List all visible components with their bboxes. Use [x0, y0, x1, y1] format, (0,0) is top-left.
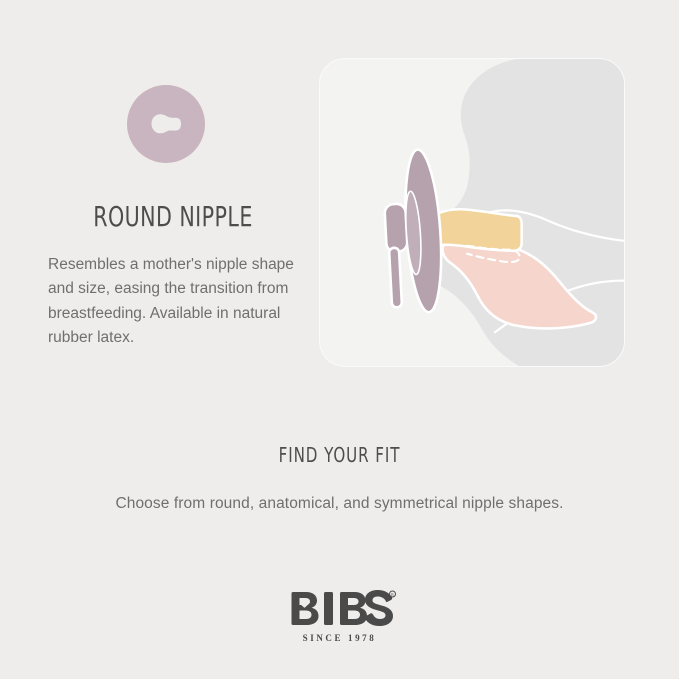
baby-profile-illustration-panel — [319, 58, 625, 367]
baby-profile-with-pacifier-diagram — [320, 59, 624, 366]
brand-logo-block: R SINCE 1978 — [0, 588, 679, 643]
feature-title: ROUND NIPPLE — [71, 202, 276, 233]
logo-letter-b-first — [291, 592, 318, 625]
bibs-wordmark-logo: R — [284, 588, 396, 628]
logo-letter-i — [324, 592, 333, 625]
find-your-fit-title: FIND YOUR FIT — [54, 443, 624, 467]
logo-tagline: SINCE 1978 — [0, 633, 679, 643]
logo-letter-s — [364, 590, 392, 626]
pacifier-handle-bar — [384, 204, 407, 253]
product-infographic-page: ROUND NIPPLE Resembles a mother's nipple… — [0, 0, 679, 679]
round-nipple-feature-column: ROUND NIPPLE Resembles a mother's nipple… — [48, 85, 298, 351]
find-your-fit-subtitle: Choose from round, anatomical, and symme… — [0, 495, 679, 513]
feature-description: Resembles a mother's nipple shape and si… — [48, 253, 298, 351]
svg-text:R: R — [391, 592, 394, 597]
feature-top-section: ROUND NIPPLE Resembles a mother's nipple… — [0, 0, 679, 400]
feature-icon-container — [48, 85, 298, 180]
round-nipple-shape-icon — [127, 85, 205, 163]
logo-letter-b-second — [340, 592, 367, 625]
pacifier-handle-stem — [389, 248, 402, 308]
find-your-fit-section: FIND YOUR FIT Choose from round, anatomi… — [0, 443, 679, 513]
